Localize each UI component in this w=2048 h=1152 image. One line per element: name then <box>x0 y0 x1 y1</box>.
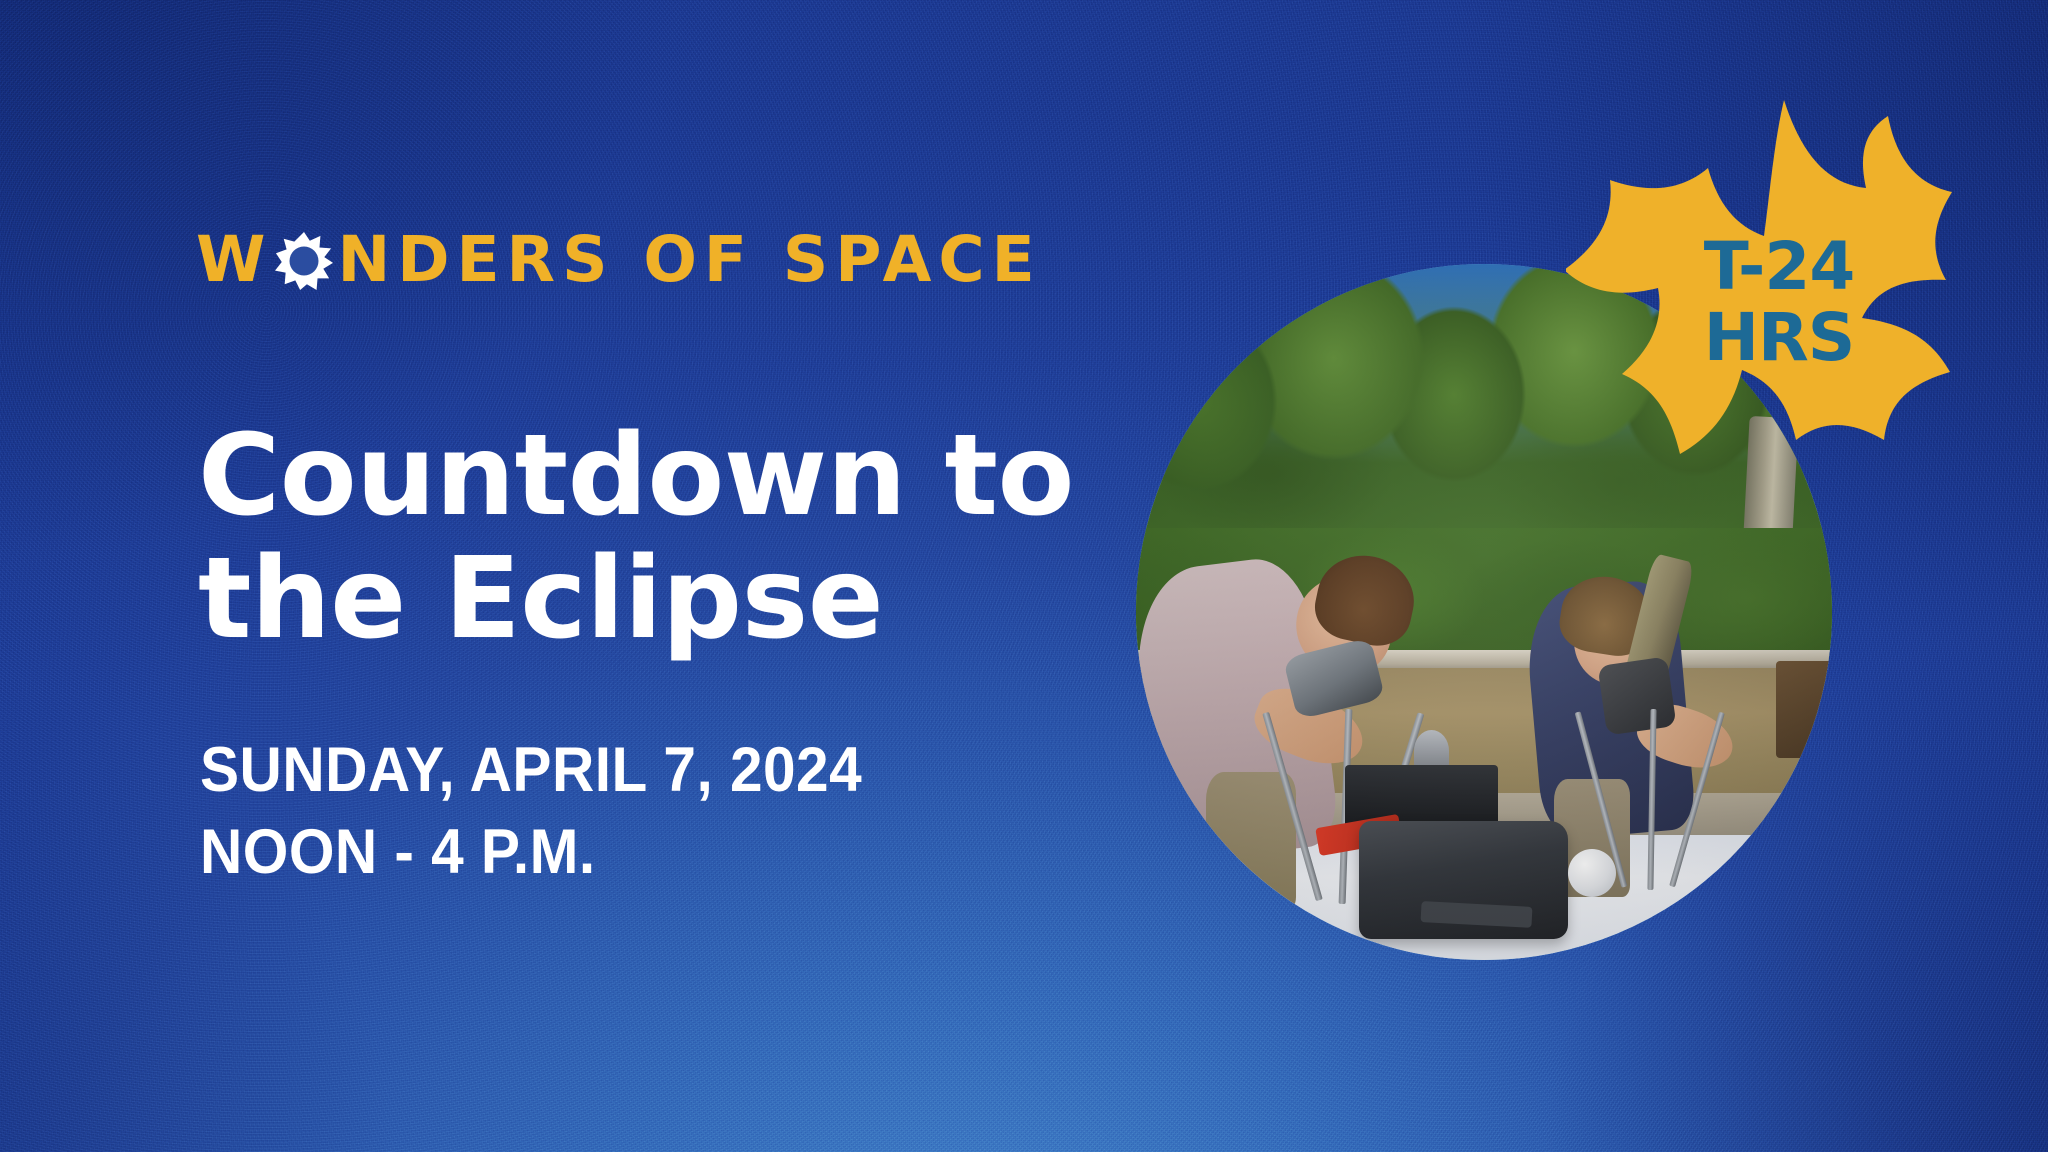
sun-eclipse-starburst-icon <box>275 232 333 290</box>
logo-text-before-icon: W <box>196 228 273 291</box>
countdown-line-2: HRS <box>1704 304 1855 371</box>
poster-canvas: T-24 HRS W NDERS OF SPACE Countdown to t… <box>0 0 2048 1152</box>
event-details: SUNDAY, APRIL 7, 2024 NOON - 4 P.M. <box>200 730 862 894</box>
headline-line-1: Countdown to <box>198 415 1178 538</box>
page-title: Countdown to the Eclipse <box>198 415 1178 661</box>
event-date: SUNDAY, APRIL 7, 2024 <box>200 730 862 812</box>
logo-text-after-icon: NDERS OF SPACE <box>338 228 1042 291</box>
countdown-line-1: T-24 <box>1704 233 1855 300</box>
brand-logo: W NDERS OF SPACE <box>196 228 1042 291</box>
headline-line-2: the Eclipse <box>198 538 1178 661</box>
countdown-badge-text: T-24 HRS <box>1566 92 2006 512</box>
event-time: NOON - 4 P.M. <box>200 812 862 894</box>
countdown-badge: T-24 HRS <box>1566 92 2006 512</box>
